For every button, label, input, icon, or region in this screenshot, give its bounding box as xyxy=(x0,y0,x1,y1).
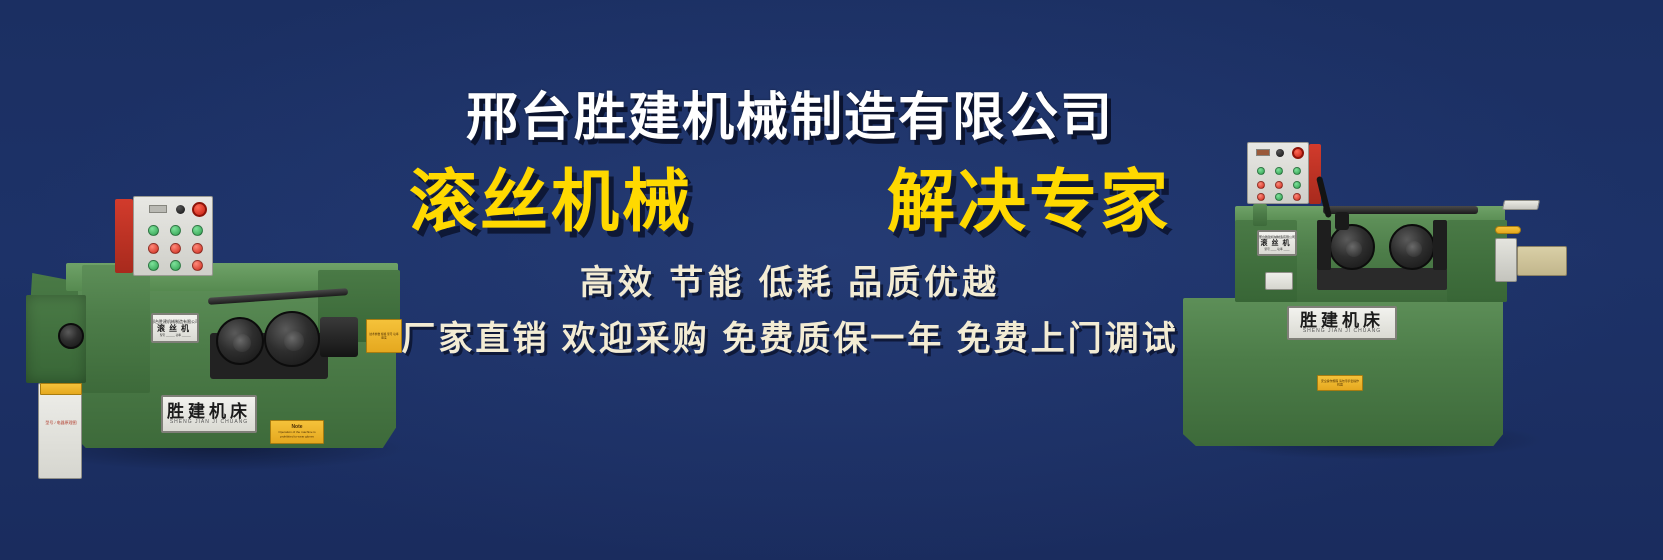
panel-button-r5[interactable] xyxy=(1275,181,1283,189)
machine-image-right: 邢台胜建机械制造有限公司 滚丝机 型号 ____ 功率 ____ 胜建机床 SH… xyxy=(1165,120,1565,450)
panel-button-r1[interactable] xyxy=(1257,167,1265,175)
feature-line: 高效 节能 低耗 品质优越 xyxy=(395,266,1185,300)
panel-button-r3[interactable] xyxy=(1293,167,1301,175)
panel-button-4[interactable] xyxy=(148,243,159,254)
slogan-right: 解决专家 xyxy=(887,168,1171,236)
roller-hub-a xyxy=(1346,241,1362,257)
brand-plate-left-cn: 胜建机床 xyxy=(167,403,251,420)
coolant-valve xyxy=(1495,238,1517,282)
brand-plate-left: 胜建机床 SHENG JIAN JI CHUANG xyxy=(161,395,257,433)
panel-button-5[interactable] xyxy=(170,243,181,254)
spec-plate-title-right: 滚丝机 xyxy=(1261,240,1294,247)
slide-block-right xyxy=(1433,220,1447,270)
emergency-stop-button[interactable] xyxy=(192,202,207,217)
motor-block xyxy=(320,317,358,357)
roller-die-right-right-machine xyxy=(1389,224,1435,270)
emergency-stop-button-right[interactable] xyxy=(1292,147,1304,159)
panel-button-1[interactable] xyxy=(148,225,159,236)
banner-copy: 邢台胜建机械制造有限公司 滚丝机械 解决专家 高效 节能 低耗 品质优越 厂家直… xyxy=(395,92,1185,356)
nameplate-right-end xyxy=(1517,246,1567,276)
spec-plate-right: 邢台胜建机械制造有限公司 滚丝机 型号 ____ 功率 ____ xyxy=(1257,230,1297,256)
brand-plate-right-en: SHENG JIAN JI CHUANG xyxy=(1303,329,1381,334)
machine-image-left: 邢台胜建机械制造有限公司 滚丝机 型号 ______ 功率 ______ 胜建机… xyxy=(18,95,410,465)
roller-hub-b xyxy=(1406,241,1422,257)
panel-button-8[interactable] xyxy=(170,260,181,271)
cabinet-top-strip xyxy=(40,383,82,395)
control-panel-face xyxy=(133,196,213,276)
cable-connector xyxy=(1335,212,1349,230)
spec-plate-title: 滚丝机 xyxy=(157,325,193,333)
panel-button-r4[interactable] xyxy=(1257,181,1265,189)
control-panel-face-right xyxy=(1247,142,1309,204)
panel-button-2[interactable] xyxy=(170,225,181,236)
panel-meter-slot-right xyxy=(1256,149,1270,156)
brand-plate-left-en: SHENG JIAN JI CHUANG xyxy=(170,420,248,425)
warning-label-right-text: 安全操作规程 请勿带手套操作机器 xyxy=(1320,379,1360,387)
control-cabinet-side-right xyxy=(1309,144,1321,204)
control-cabinet-stand xyxy=(1253,204,1267,226)
machine-headstock xyxy=(82,265,150,393)
warning-label-right: 安全操作规程 请勿带手套操作机器 xyxy=(1317,375,1363,391)
panel-button-3[interactable] xyxy=(192,225,203,236)
roller-hub-right xyxy=(284,331,304,351)
panel-button-r9[interactable] xyxy=(1293,193,1301,201)
spec-plate-detail: 型号 ______ 功率 ______ xyxy=(159,333,190,337)
selector-knob[interactable] xyxy=(176,205,185,214)
spec-plate-detail-right: 型号 ____ 功率 ____ xyxy=(1264,247,1289,251)
panel-button-r7[interactable] xyxy=(1257,193,1265,201)
drive-coupling xyxy=(58,323,84,349)
panel-meter-slot xyxy=(149,205,167,213)
roller-die-left-right-machine xyxy=(1329,224,1375,270)
roller-housing-right xyxy=(1317,268,1447,290)
company-name: 邢台胜建机械制造有限公司 xyxy=(395,92,1185,144)
spec-plate-left: 邢台胜建机械制造有限公司 滚丝机 型号 ______ 功率 ______ xyxy=(151,313,199,343)
slogan-row: 滚丝机械 解决专家 xyxy=(395,168,1185,236)
roller-die-right xyxy=(264,311,320,367)
panel-button-r2[interactable] xyxy=(1275,167,1283,175)
panel-button-r8[interactable] xyxy=(1275,193,1283,201)
control-cabinet-side xyxy=(115,199,133,273)
promise-line: 厂家直销 欢迎采购 免费质保一年 免费上门调试 xyxy=(395,322,1185,356)
brand-plate-right: 胜建机床 SHENG JIAN JI CHUANG xyxy=(1287,306,1397,340)
slide-block-left xyxy=(1317,220,1331,270)
warning-label-text: Operation of the machine is prohibited t… xyxy=(274,431,321,439)
panel-button-7[interactable] xyxy=(148,260,159,271)
hose-manifold xyxy=(1495,226,1521,234)
spec-plate-small-right xyxy=(1265,272,1293,290)
roller-die-left xyxy=(216,317,264,365)
slogan-left: 滚丝机械 xyxy=(409,168,693,236)
panel-button-9[interactable] xyxy=(192,260,203,271)
support-tray xyxy=(1502,200,1540,210)
brand-plate-right-cn: 胜建机床 xyxy=(1300,312,1384,329)
roller-hub-left xyxy=(233,334,251,352)
selector-knob-right[interactable] xyxy=(1276,149,1284,157)
cabinet-label-text: 型号 / 电器原理图 xyxy=(44,420,78,446)
warning-label-left: Note Operation of the machine is prohibi… xyxy=(270,420,324,444)
promo-banner: 邢台胜建机械制造有限公司 滚丝机 型号 ______ 功率 ______ 胜建机… xyxy=(0,0,1663,560)
panel-button-6[interactable] xyxy=(192,243,203,254)
panel-button-r6[interactable] xyxy=(1293,181,1301,189)
